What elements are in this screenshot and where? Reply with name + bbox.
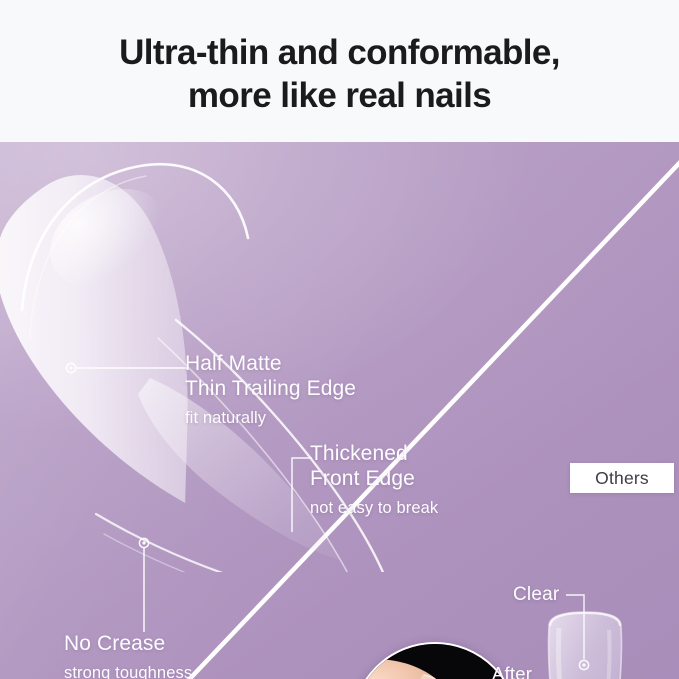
leader-line-clear [562, 589, 600, 675]
label-clear: Clear [513, 584, 559, 606]
label-after-bend: After Bend [492, 663, 536, 679]
annotation-title: Half Matte Thin Trailing Edge [185, 352, 356, 402]
callout-dot-icon [66, 363, 75, 372]
infographic-root: Ultra-thin and conformable, more like re… [0, 0, 679, 679]
others-badge: Others [570, 463, 674, 493]
annotation-subtitle: strong toughness [64, 664, 192, 679]
leader-line-no-crease [131, 532, 157, 634]
callout-dot-icon [139, 538, 148, 547]
annotation-title: No Crease [64, 632, 192, 657]
callout-dot-icon [579, 660, 588, 669]
leader-line-half-matte [60, 357, 190, 379]
annotation-thickened: Thickened Front Edge not easy to break [310, 442, 438, 518]
header-banner: Ultra-thin and conformable, more like re… [0, 0, 679, 142]
comparison-panel: Half Matte Thin Trailing Edge fit natura… [0, 142, 679, 679]
annotation-title: Thickened Front Edge [310, 442, 438, 492]
annotation-half-matte: Half Matte Thin Trailing Edge fit natura… [185, 352, 356, 428]
abs-nail-swatch [527, 610, 643, 679]
annotation-no-crease: No Crease strong toughness [64, 632, 192, 679]
others-badge-label: Others [595, 468, 649, 489]
page-title: Ultra-thin and conformable, more like re… [119, 32, 560, 117]
annotation-subtitle: fit naturally [185, 409, 356, 429]
annotation-subtitle: not easy to break [310, 499, 438, 519]
